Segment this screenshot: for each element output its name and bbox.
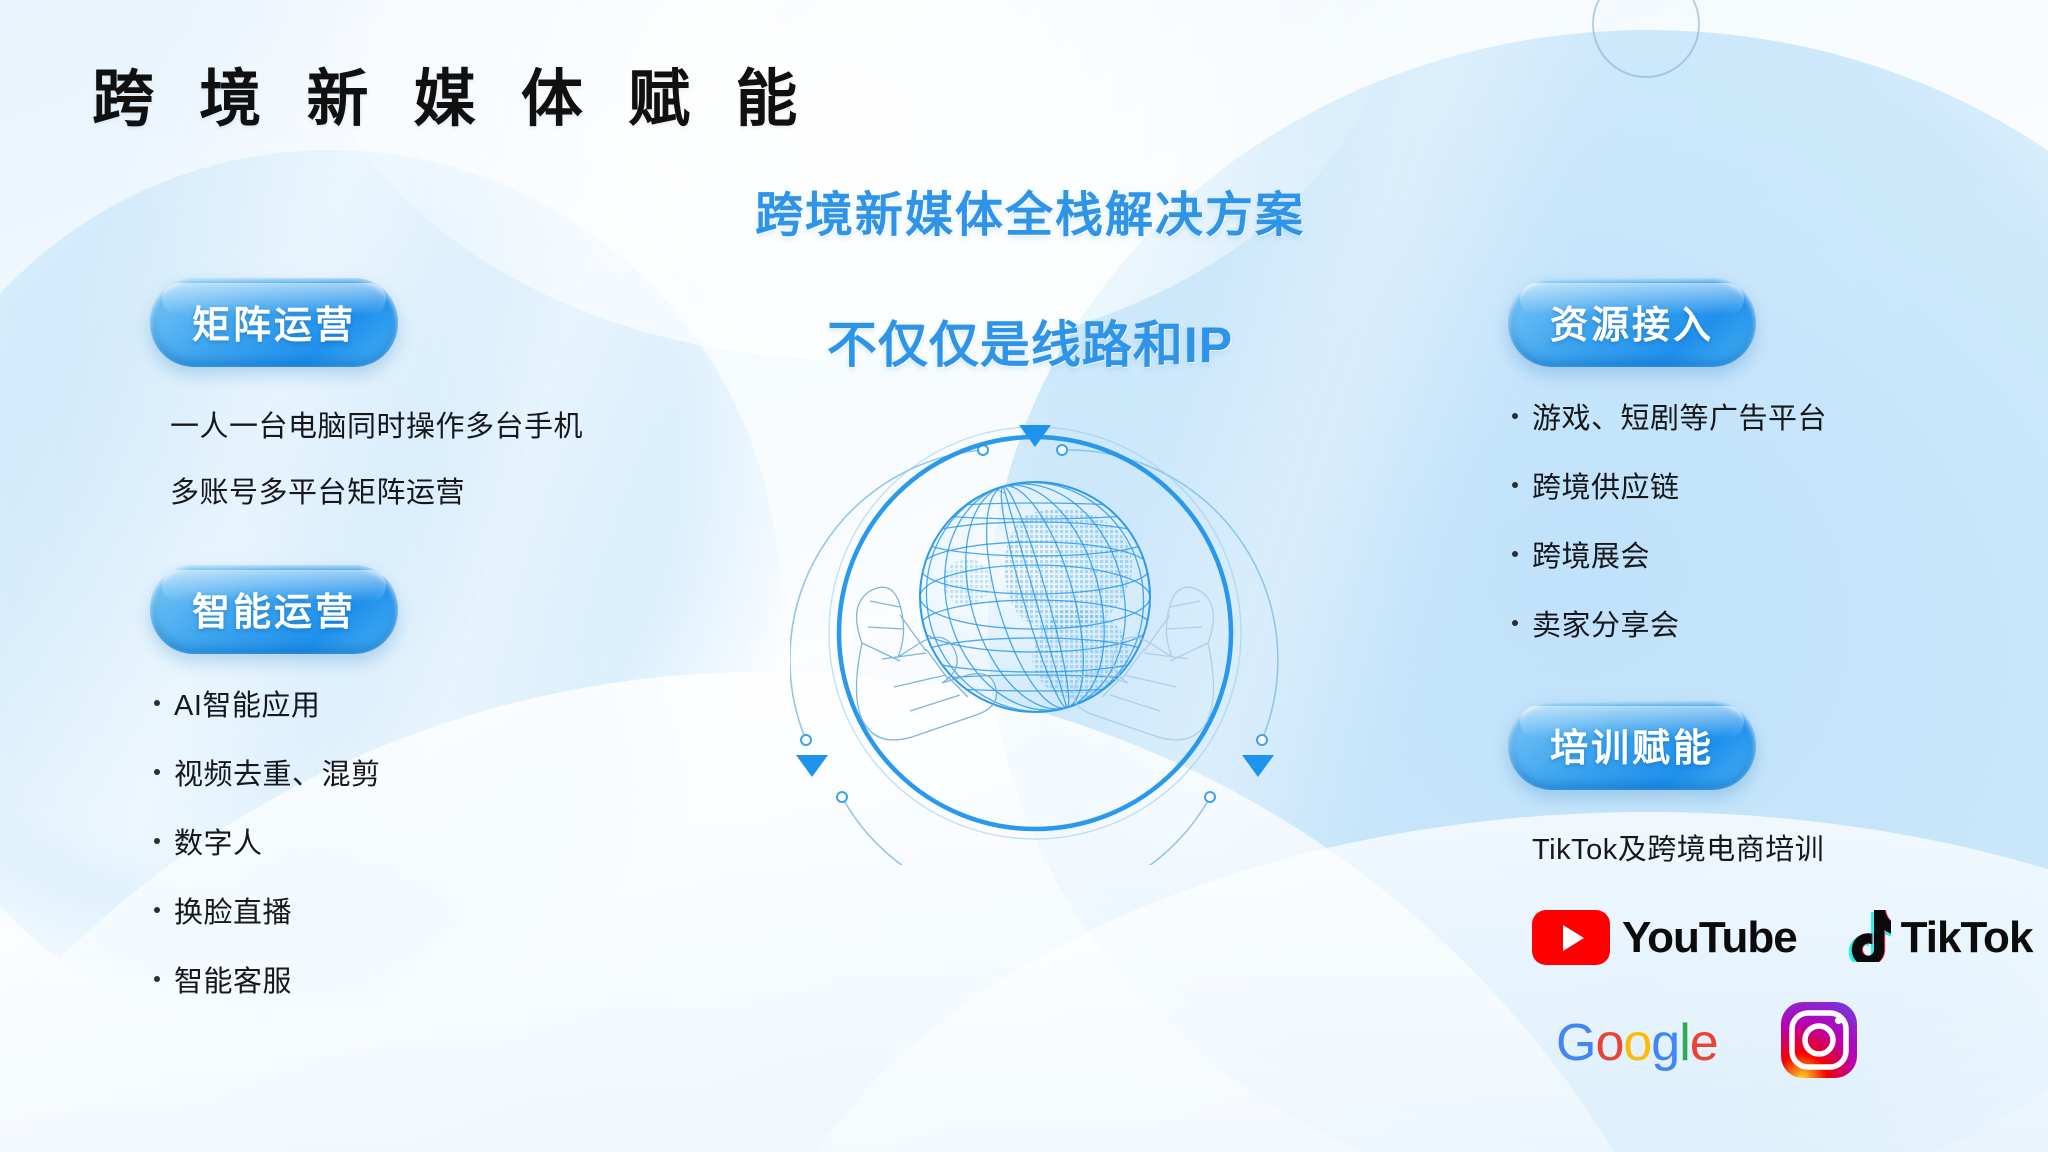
- pill-resource-access[interactable]: 资源接入: [1508, 278, 1756, 367]
- tiktok-note-icon: [1843, 908, 1891, 967]
- left-text-line-2: 多账号多平台矩阵运营: [170, 469, 710, 511]
- youtube-logo[interactable]: YouTube: [1532, 910, 1797, 965]
- list-item: 卖家分享会: [1508, 602, 2008, 644]
- list-item: 智能客服: [150, 958, 710, 1000]
- slide-canvas: 跨 境 新 媒 体 赋 能 跨境新媒体全栈解决方案 不仅仅是线路和IP: [0, 0, 2048, 1152]
- logo-row-secondary: Google: [1556, 1001, 2008, 1084]
- bullet-dot-icon: [154, 700, 160, 706]
- tiktok-wordmark: TikTok: [1901, 913, 2033, 963]
- right-bullet-list: 游戏、短剧等广告平台 跨境供应链 跨境展会 卖家分享会: [1508, 395, 2008, 644]
- list-item-label: 智能客服: [174, 958, 292, 1000]
- google-letter: g: [1651, 1014, 1679, 1072]
- pill-label: 智能运营: [192, 592, 356, 634]
- google-letter: o: [1623, 1014, 1651, 1072]
- training-description: TikTok及跨境电商培训: [1532, 826, 2008, 868]
- instagram-camera-icon: [1780, 1001, 1858, 1079]
- list-item-label: 数字人: [174, 820, 263, 862]
- youtube-wordmark: YouTube: [1622, 913, 1797, 963]
- spacer: [150, 535, 710, 565]
- pill-label: 培训赋能: [1550, 728, 1714, 770]
- google-letter: e: [1690, 1014, 1718, 1072]
- pill-matrix-operations[interactable]: 矩阵运营: [150, 278, 398, 367]
- globe-svg: [790, 415, 1280, 865]
- list-item-label: 换脸直播: [174, 889, 292, 931]
- list-item-label: 卖家分享会: [1532, 602, 1680, 644]
- spacer: [1508, 671, 2008, 701]
- google-letter: o: [1595, 1014, 1623, 1072]
- list-item: AI智能应用: [150, 682, 710, 724]
- triangle-marker-bottom-left-icon: [796, 755, 828, 777]
- headline-primary: 跨境新媒体全栈解决方案: [640, 175, 1420, 245]
- spacer: [150, 654, 710, 682]
- left-text-line-1: 一人一台电脑同时操作多台手机: [170, 403, 710, 445]
- list-item: 视频去重、混剪: [150, 751, 710, 793]
- pill-label: 资源接入: [1550, 305, 1714, 347]
- headline-secondary: 不仅仅是线路和IP: [640, 305, 1420, 377]
- bullet-dot-icon: [1512, 482, 1518, 488]
- bullet-dot-icon: [154, 769, 160, 775]
- list-item: 游戏、短剧等广告平台: [1508, 395, 2008, 437]
- spacer: [150, 367, 710, 403]
- list-item-label: 跨境展会: [1532, 533, 1650, 575]
- list-item: 跨境供应链: [1508, 464, 2008, 506]
- logo-row-primary: YouTube TikTok: [1532, 908, 2008, 967]
- bullet-dot-icon: [154, 976, 160, 982]
- list-item-label: 游戏、短剧等广告平台: [1532, 395, 1827, 437]
- bullet-dot-icon: [154, 907, 160, 913]
- google-logo[interactable]: Google: [1556, 1013, 1718, 1073]
- pill-smart-operations[interactable]: 智能运营: [150, 565, 398, 654]
- bullet-dot-icon: [1512, 620, 1518, 626]
- decorative-circle-icon: [1592, 0, 1700, 78]
- headline-group: 跨境新媒体全栈解决方案 不仅仅是线路和IP: [640, 175, 1420, 377]
- list-item: 数字人: [150, 820, 710, 862]
- spacer: [1508, 367, 2008, 395]
- list-item-label: AI智能应用: [174, 682, 320, 724]
- triangle-marker-bottom-right-icon: [1242, 755, 1274, 777]
- list-item: 换脸直播: [150, 889, 710, 931]
- list-item-label: 跨境供应链: [1532, 464, 1680, 506]
- youtube-play-icon: [1532, 910, 1610, 965]
- left-column: 矩阵运营 一人一台电脑同时操作多台手机 多账号多平台矩阵运营 智能运营 AI智能…: [150, 278, 710, 1027]
- google-letter: G: [1556, 1014, 1595, 1072]
- bullet-dot-icon: [1512, 413, 1518, 419]
- bullet-dot-icon: [154, 838, 160, 844]
- tiktok-logo[interactable]: TikTok: [1843, 908, 2033, 967]
- wireframe-globe: [899, 457, 1170, 738]
- globe-in-hands-illustration: [790, 415, 1280, 865]
- google-letter: l: [1679, 1014, 1690, 1072]
- right-column: 资源接入 游戏、短剧等广告平台 跨境供应链 跨境展会 卖家分享会 培训赋: [1508, 278, 2008, 1084]
- pill-training-empowerment[interactable]: 培训赋能: [1508, 701, 1756, 790]
- instagram-logo[interactable]: [1780, 1001, 1858, 1084]
- triangle-marker-top-icon: [1019, 425, 1051, 447]
- left-bullet-list: AI智能应用 视频去重、混剪 数字人 换脸直播 智能客服: [150, 682, 710, 1000]
- list-item-label: 视频去重、混剪: [174, 751, 381, 793]
- list-item: 跨境展会: [1508, 533, 2008, 575]
- pill-label: 矩阵运营: [192, 305, 356, 347]
- bullet-dot-icon: [1512, 551, 1518, 557]
- page-title: 跨 境 新 媒 体 赋 能: [92, 48, 811, 138]
